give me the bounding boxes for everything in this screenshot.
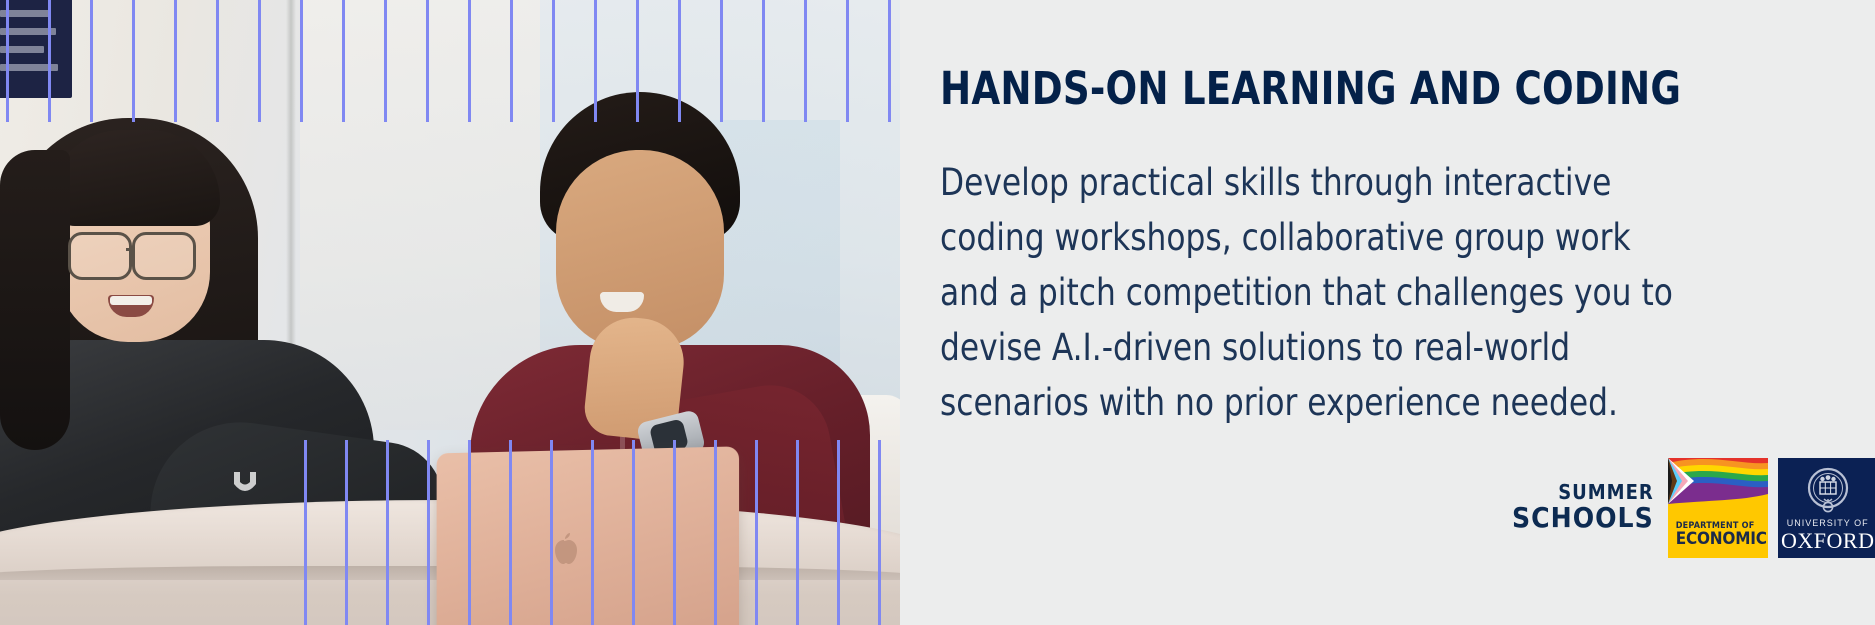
jacket-brand-logo — [230, 470, 260, 496]
summer-schools-line2: SCHOOLS — [1512, 503, 1654, 532]
body-line-5: scenarios with no prior experience neede… — [940, 375, 1791, 430]
summer-schools-line1: SUMMER — [1512, 482, 1654, 503]
body-line-3: and a pitch competition that challenges … — [940, 265, 1791, 320]
department-of-economics-logo: DEPARTMENT OF ECONOMICS — [1668, 458, 1768, 558]
logo-lockup: SUMMER SCHOOLS — [1512, 455, 1875, 560]
wall-panel-left — [300, 0, 540, 430]
eyeglasses-left-lens — [68, 232, 132, 280]
body-paragraph: Develop practical skills through interac… — [940, 155, 1791, 430]
economics-line2: ECONOMICS — [1676, 531, 1768, 549]
student-left-teeth — [110, 296, 152, 305]
page-title: HANDS-ON LEARNING AND CODING — [940, 62, 1768, 115]
laptop-lid — [437, 446, 739, 625]
body-line-1: Develop practical skills through interac… — [940, 155, 1791, 210]
laptop-brand-icon — [550, 533, 584, 571]
body-line-4: devise A.I.-driven solutions to real-wor… — [940, 320, 1791, 375]
eyeglasses-right-lens — [132, 232, 196, 280]
student-left-hair-side — [0, 150, 70, 450]
hero-photo — [0, 0, 900, 625]
oxford-line2: OXFORD — [1778, 528, 1875, 554]
progress-pride-flag-icon — [1668, 458, 1768, 504]
summer-school-banner: HANDS-ON LEARNING AND CODING Develop pra… — [0, 0, 1875, 625]
oxford-crest-icon — [1802, 466, 1854, 518]
university-of-oxford-logo: UNIVERSITY OF OXFORD — [1778, 458, 1875, 558]
content-panel: HANDS-ON LEARNING AND CODING Develop pra… — [900, 0, 1875, 625]
economics-wordmark: DEPARTMENT OF ECONOMICS — [1676, 521, 1768, 549]
wall-sign — [0, 0, 72, 98]
eyeglasses-bridge — [126, 248, 134, 251]
summer-schools-wordmark: SUMMER SCHOOLS — [1512, 482, 1658, 532]
body-line-2: coding workshops, collaborative group wo… — [940, 210, 1791, 265]
oxford-line1: UNIVERSITY OF — [1778, 518, 1875, 528]
